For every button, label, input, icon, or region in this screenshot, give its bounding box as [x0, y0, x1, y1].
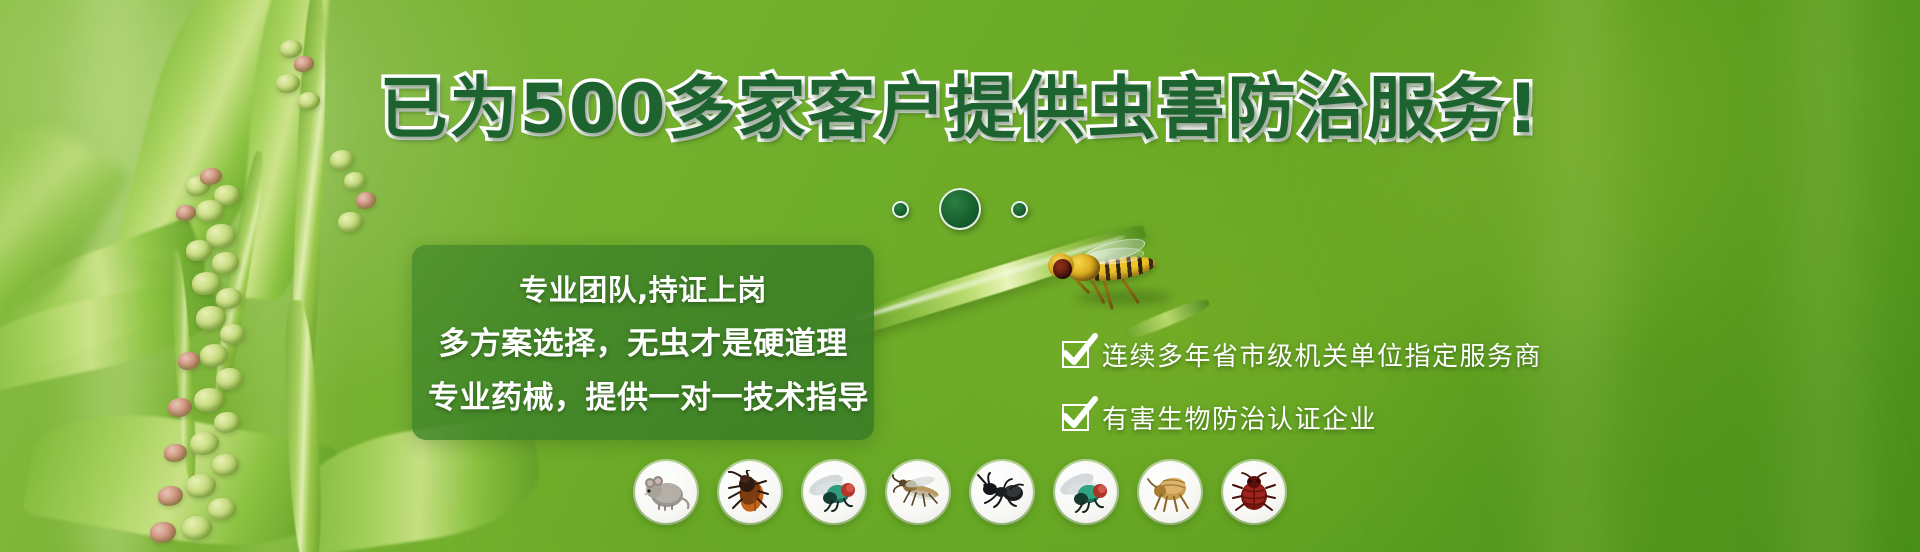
decor-dot-small-right: [1011, 201, 1028, 218]
pest-icon-circle-blowfly[interactable]: [1055, 461, 1117, 523]
fly-icon: [808, 471, 860, 513]
checkbox-checked-icon: [1062, 404, 1089, 431]
selling-point-line-3: 专业药械，提供一对一技术指导: [428, 372, 858, 417]
credentials-list: 连续多年省市级机关单位指定服务商 有害生物防治认证企业: [1062, 336, 1542, 436]
decor-dot-large-center: [939, 188, 981, 230]
bedbug-icon: [1229, 471, 1279, 513]
fly-eye: [1053, 259, 1072, 279]
plant-side-stem: [168, 250, 199, 480]
pest-icon-circle-mosquito[interactable]: [887, 461, 949, 523]
banner-headline-text: 已为500多家客户提供虫害防治服务!: [380, 70, 1541, 149]
pest-icon-circle-flea[interactable]: [1139, 461, 1201, 523]
flea-icon: [1145, 471, 1195, 513]
ant-icon: [977, 472, 1027, 512]
pest-icon-circle-fly[interactable]: [803, 461, 865, 523]
pest-icon-circle-ant[interactable]: [971, 461, 1033, 523]
pest-icon-row: [0, 461, 1920, 523]
fly-shadow: [1076, 290, 1172, 305]
decorative-dot-row: [0, 188, 1920, 230]
blowfly-icon: [1060, 471, 1112, 513]
credential-item: 连续多年省市级机关单位指定服务商: [1062, 336, 1542, 373]
selling-point-line-2: 多方案选择，无虫才是硬道理: [428, 318, 858, 363]
decor-dot-small-left: [892, 201, 909, 218]
credential-item: 有害生物防治认证企业: [1062, 399, 1542, 436]
credential-label: 连续多年省市级机关单位指定服务商: [1102, 336, 1542, 373]
bokeh-blob: [0, 0, 370, 320]
pest-icon-circle-cockroach[interactable]: [719, 461, 781, 523]
credential-label: 有害生物防治认证企业: [1102, 399, 1377, 436]
cockroach-icon: [725, 470, 775, 514]
pest-icon-circle-mouse[interactable]: [635, 461, 697, 523]
banner-headline: 已为500多家客户提供虫害防治服务!: [0, 76, 1920, 144]
pest-control-hero-banner: 已为500多家客户提供虫害防治服务! 专业团队,持证上岗 多方案选择，无虫才是硬…: [0, 0, 1920, 552]
selling-points-panel: 专业团队,持证上岗 多方案选择，无虫才是硬道理 专业药械，提供一对一技术指导: [412, 245, 874, 440]
fly-head: [1048, 253, 1074, 278]
bokeh-blob: [1280, 0, 1800, 360]
checkbox-checked-icon: [1062, 341, 1089, 368]
mosquito-icon: [892, 471, 944, 513]
pest-icon-circle-bedbug[interactable]: [1223, 461, 1285, 523]
mouse-icon: [641, 472, 691, 512]
hoverfly-icon: [1040, 246, 1170, 310]
selling-point-line-1: 专业团队,持证上岗: [428, 267, 858, 309]
